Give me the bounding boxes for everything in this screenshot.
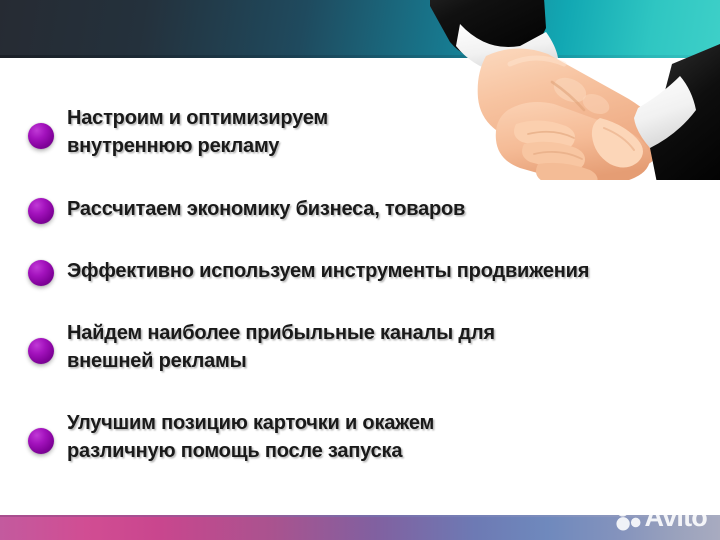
bullet-text: Рассчитаем экономику бизнеса, товаров [67, 195, 465, 223]
footer-gradient-band [0, 515, 720, 540]
list-item: Улучшим позицию карточки и окажем различ… [28, 409, 434, 465]
slide-canvas: Настроим и оптимизируем внутреннюю рекла… [0, 0, 720, 540]
bullet-dot-icon [28, 428, 54, 454]
list-item: Найдем наиболее прибыльные каналы для вн… [28, 319, 495, 375]
list-item: Эффективно используем инструменты продви… [28, 257, 589, 286]
list-item: Настроим и оптимизируем внутреннюю рекла… [28, 104, 328, 160]
bullet-text: Настроим и оптимизируем внутреннюю рекла… [67, 104, 328, 160]
bullet-dot-icon [28, 338, 54, 364]
bullet-dot-icon [28, 260, 54, 286]
bullet-text: Эффективно используем инструменты продви… [67, 257, 589, 285]
bullet-dot-icon [28, 198, 54, 224]
bullet-text: Улучшим позицию карточки и окажем различ… [67, 409, 434, 465]
header-gradient-band [0, 0, 720, 58]
bullet-text: Найдем наиболее прибыльные каналы для вн… [67, 319, 495, 375]
bullet-dot-icon [28, 123, 54, 149]
list-item: Рассчитаем экономику бизнеса, товаров [28, 195, 465, 224]
